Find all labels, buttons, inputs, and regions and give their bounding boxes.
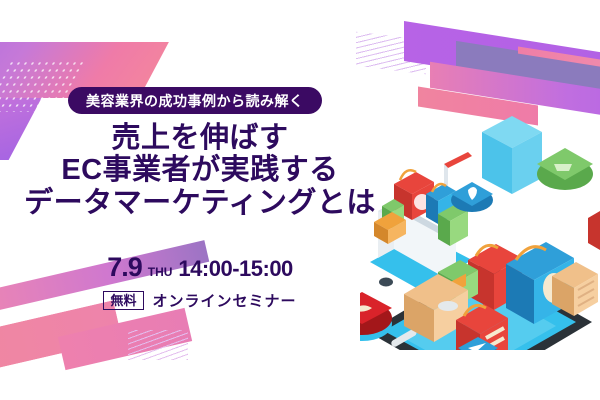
event-date-day: 7.9 (107, 252, 142, 283)
event-format-row: 無料 オンラインセミナー (0, 290, 400, 311)
decor-top-right-band-2 (456, 41, 596, 95)
decor-bottom-left-stripe-2 (0, 300, 122, 379)
price-badge: 無料 (103, 291, 143, 310)
event-date-weekday: THU (148, 265, 173, 279)
decor-bottom-left-stripe-3 (58, 308, 192, 370)
headline-line-3: データマーケティングとは (0, 187, 400, 219)
location-pin-icon (451, 182, 493, 212)
decor-top-right-band-1 (404, 21, 600, 107)
page-title: 売上を伸ばす EC事業者が実践する データマーケティングとは (0, 122, 400, 219)
eyebrow-badge: 美容業界の成功事例から読み解く (68, 87, 322, 114)
ecommerce-illustration (360, 110, 600, 350)
headline-line-1: 売上を伸ばす (0, 122, 400, 154)
parcel-box-icon (482, 116, 542, 194)
event-date-row: 7.9 THU 14:00-15:00 (0, 252, 400, 283)
basket-icon (588, 211, 600, 250)
event-details: 7.9 THU 14:00-15:00 無料 オンラインセミナー (0, 252, 400, 311)
decor-top-right-hatch-lines (356, 32, 426, 75)
decor-top-right-band-3 (518, 46, 600, 95)
decor-top-right-band-4 (516, 53, 600, 96)
decor-bottom-left-hatch-lines (128, 330, 188, 360)
event-time: 14:00-15:00 (178, 256, 292, 282)
seminar-banner: 美容業界の成功事例から読み解く 売上を伸ばす EC事業者が実践する データマーケ… (0, 0, 600, 400)
format-label: オンラインセミナー (153, 290, 297, 311)
cart-button-icon (537, 148, 593, 190)
headline-line-2: EC事業者が実践する (0, 154, 400, 186)
